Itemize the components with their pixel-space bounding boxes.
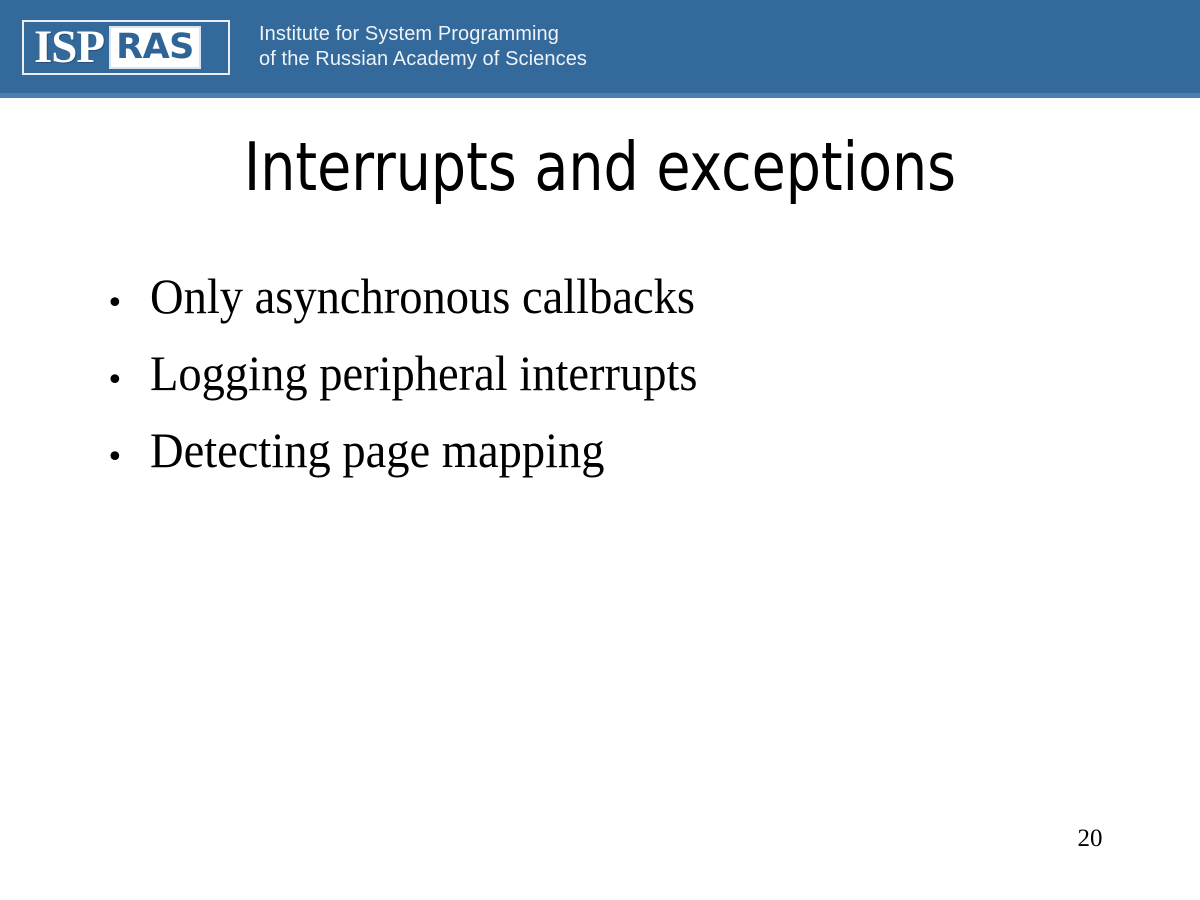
bullet-point-icon: • bbox=[100, 443, 150, 473]
list-item-label: Logging peripheral interrupts bbox=[150, 345, 698, 401]
logo-ras-box: RAS bbox=[109, 26, 201, 69]
bullet-list: • Only asynchronous callbacks • Logging … bbox=[100, 268, 1100, 499]
logo-isp-text: ISP bbox=[34, 24, 104, 71]
institute-name-line1: Institute for System Programming bbox=[259, 22, 587, 47]
list-item: • Only asynchronous callbacks bbox=[100, 268, 1100, 345]
page-number: 20 bbox=[1060, 825, 1120, 853]
institute-name-line2: of the Russian Academy of Sciences bbox=[259, 47, 587, 72]
bullet-point-icon: • bbox=[100, 366, 150, 396]
header-banner-underline bbox=[0, 93, 1200, 98]
ispras-logo: ISP RAS bbox=[22, 20, 230, 75]
list-item-label: Detecting page mapping bbox=[150, 422, 605, 478]
logo-ras-text: RAS bbox=[116, 30, 194, 65]
list-item-label: Only asynchronous callbacks bbox=[150, 268, 695, 324]
slide-title: Interrupts and exceptions bbox=[48, 128, 1152, 206]
institute-name: Institute for System Programming of the … bbox=[259, 22, 587, 72]
bullet-point-icon: • bbox=[100, 289, 150, 319]
list-item: • Detecting page mapping bbox=[100, 422, 1100, 499]
slide-page: { "theme": { "banner_color": "#336a9b", … bbox=[0, 0, 1200, 900]
list-item: • Logging peripheral interrupts bbox=[100, 345, 1100, 422]
